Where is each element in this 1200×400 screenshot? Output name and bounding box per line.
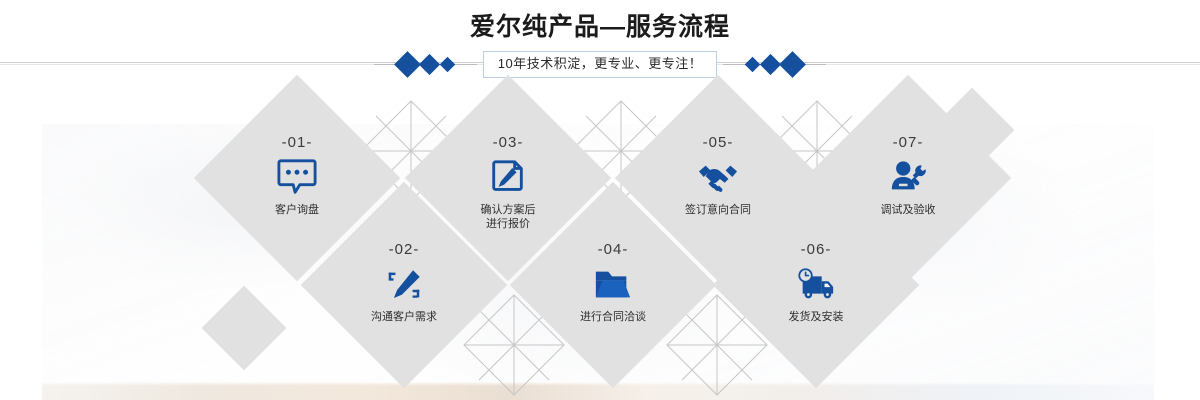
delivery-truck-clock-icon — [795, 265, 837, 305]
step-number: -03- — [493, 135, 524, 151]
step-label: 沟通客户需求 — [371, 310, 437, 324]
diamond-small-right-icon — [745, 56, 761, 72]
step-label: 调试及验收 — [881, 203, 936, 217]
step-label: 签订意向合同 — [685, 203, 751, 217]
header-decoration-row: 10年技术积淀，更专业、更专注！ — [0, 48, 1200, 80]
diamond-large-left-icon — [394, 51, 421, 78]
page-title: 爱尔纯产品—服务流程 — [0, 10, 1200, 44]
step-number: -01- — [282, 135, 313, 151]
document-pencil-icon — [487, 158, 529, 198]
step-number: -07- — [893, 135, 924, 151]
step-number: -06- — [801, 242, 832, 258]
step-label: 确认方案后 — [481, 203, 536, 217]
step-label: 进行合同洽谈 — [580, 310, 646, 324]
flow-step-07[interactable]: -07- 调试及验收 — [805, 75, 1011, 281]
step-number: -02- — [389, 242, 420, 258]
folder-icon — [592, 265, 634, 305]
pencil-communication-icon — [383, 265, 425, 305]
diamond-small-left-icon — [439, 56, 455, 72]
handshake-icon — [697, 158, 739, 198]
tagline-box: 10年技术积淀，更专业、更专注！ — [483, 51, 717, 78]
background-photo-strip — [42, 382, 1154, 400]
step-number: -05- — [703, 135, 734, 151]
decor-line-inner-left — [453, 64, 477, 65]
technician-wrench-icon — [887, 158, 929, 198]
diamond-medium-left-icon — [419, 53, 440, 74]
step-number: -04- — [598, 242, 629, 258]
step-label: 发货及安装 — [789, 310, 844, 324]
service-flow-banner: 爱尔纯产品—服务流程 10年技术积淀，更专业、更专注！ — [0, 0, 1200, 400]
step-label-line2: 进行报价 — [486, 217, 530, 231]
diamond-large-right-icon — [779, 51, 806, 78]
speech-bubble-icon — [276, 158, 318, 198]
step-label: 客户询盘 — [275, 203, 319, 217]
